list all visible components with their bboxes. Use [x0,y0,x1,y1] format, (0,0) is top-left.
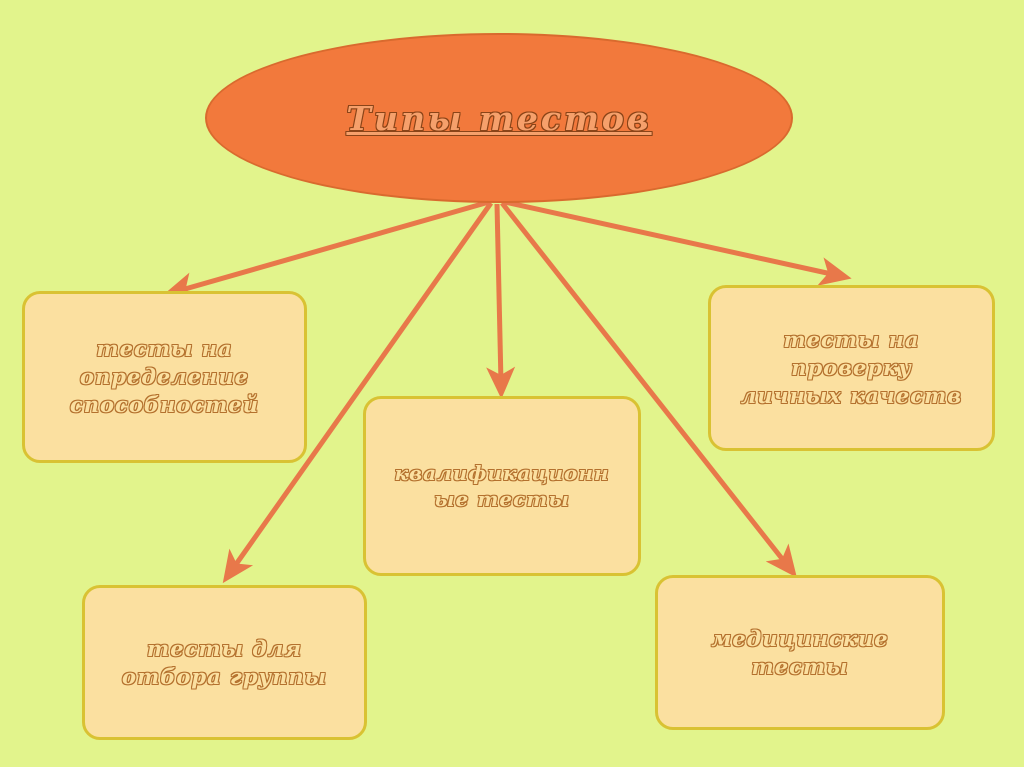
connector-root-to-personal [505,202,836,275]
node-medical[interactable]: медицинские тесты [655,575,945,730]
node-abilities-line-2: определение [70,363,259,391]
node-personal-line-1: тесты на [741,326,962,354]
node-personal-line-3: личных качеств [741,382,962,410]
node-abilities-line-3: способностей [70,391,259,419]
node-root-types-of-tests[interactable]: Типы тестов [205,33,793,203]
node-qualification-line-1: квалификационн [395,460,610,486]
node-selection-line-2: отбора группы [122,663,327,691]
node-qualification-label: квалификационн ые тесты [395,460,610,513]
node-qualification-line-2: ые тесты [395,486,610,512]
node-personal-qualities-label: тесты на проверку личных качеств [741,326,962,409]
node-abilities-line-1: тесты на [70,335,259,363]
node-medical-label: медицинские тесты [711,625,888,680]
node-group-selection-label: тесты для отбора группы [122,635,327,690]
node-root-label: Типы тестов [346,99,651,138]
node-personal-qualities[interactable]: тесты на проверку личных качеств [708,285,995,451]
node-selection-line-1: тесты для [122,635,327,663]
node-medical-line-2: тесты [711,653,888,681]
node-medical-line-1: медицинские [711,625,888,653]
node-group-selection[interactable]: тесты для отбора группы [82,585,367,740]
node-abilities-label: тесты на определение способностей [70,335,259,418]
node-abilities[interactable]: тесты на определение способностей [22,291,307,463]
connector-root-to-qualification [497,204,501,383]
node-qualification[interactable]: квалификационн ые тесты [363,396,641,576]
node-personal-line-2: проверку [741,354,962,382]
slide-canvas: Типы тестов тесты на определение способн… [0,0,1024,767]
connector-root-to-abilities [178,202,489,291]
